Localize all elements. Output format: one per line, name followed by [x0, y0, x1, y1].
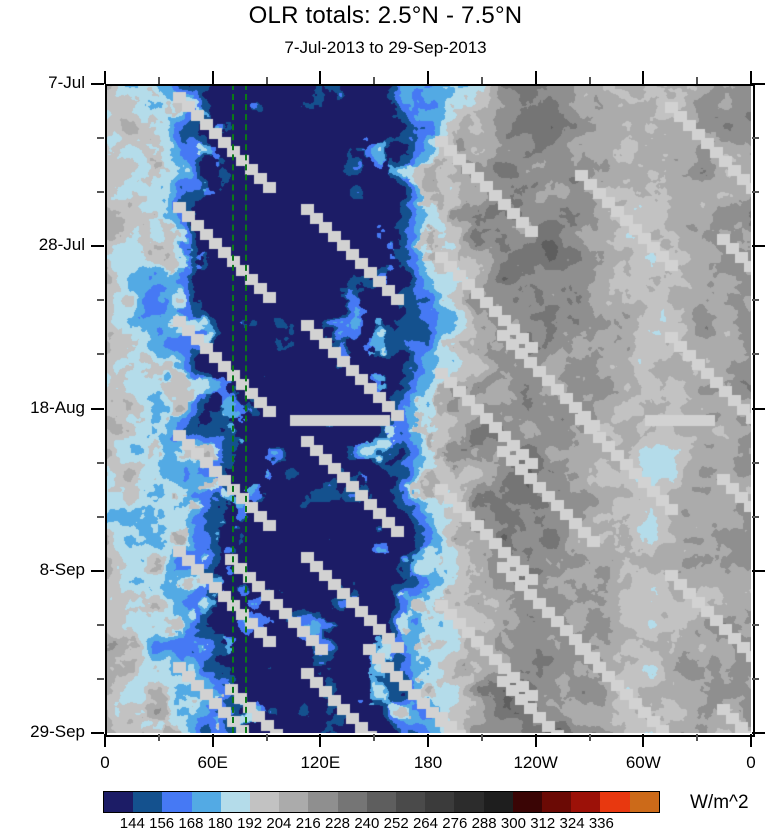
colorbar-swatch-1 — [133, 792, 162, 812]
y-axis-label: 8-Sep — [1, 560, 85, 580]
x-major-tick — [212, 734, 214, 747]
x-minor-tick — [158, 734, 160, 741]
hovmoller-figure: OLR totals: 2.5°N - 7.5°N 7-Jul-2013 to … — [0, 0, 771, 834]
y-minor-tick-right — [752, 299, 759, 301]
y-minor-tick-right — [752, 624, 759, 626]
colorbar-swatch-11 — [425, 792, 454, 812]
y-major-tick — [91, 245, 104, 247]
y-minor-tick-right — [752, 516, 759, 518]
y-minor-tick — [97, 462, 104, 464]
x-axis-label: 0 — [70, 753, 140, 773]
y-major-tick — [91, 408, 104, 410]
colorbar-swatch-5 — [250, 792, 279, 812]
y-axis-label: 7-Jul — [1, 73, 85, 93]
colorbar-swatch-18 — [630, 792, 659, 812]
x-major-tick — [427, 734, 429, 747]
x-minor-tick-top — [696, 77, 698, 84]
x-axis-label: 60W — [608, 753, 678, 773]
y-major-tick — [91, 83, 104, 85]
x-minor-tick — [266, 734, 268, 741]
colorbar-tick-label: 336 — [584, 815, 618, 832]
y-axis-label: 29-Sep — [1, 722, 85, 742]
y-minor-tick — [97, 624, 104, 626]
colorbar-swatch-17 — [600, 792, 629, 812]
y-major-tick-right — [752, 732, 765, 734]
colorbar-swatch-13 — [484, 792, 513, 812]
y-major-tick — [91, 570, 104, 572]
colorbar-swatches — [103, 791, 660, 813]
x-minor-tick — [589, 734, 591, 741]
y-major-tick-right — [752, 245, 765, 247]
colorbar-swatch-9 — [367, 792, 396, 812]
x-axis-label: 0 — [716, 753, 771, 773]
y-minor-tick — [97, 353, 104, 355]
colorbar-swatch-7 — [308, 792, 337, 812]
y-axis-label: 28-Jul — [1, 235, 85, 255]
colorbar-swatch-0 — [104, 792, 133, 812]
x-axis-label: 120W — [501, 753, 571, 773]
x-major-tick — [750, 734, 752, 747]
y-minor-tick — [97, 678, 104, 680]
x-major-tick-top — [104, 71, 106, 84]
colorbar-tick-labels: 1441561681801922042162282402522642762883… — [103, 815, 663, 833]
x-minor-tick-top — [589, 77, 591, 84]
y-minor-tick — [97, 137, 104, 139]
colorbar-swatch-6 — [279, 792, 308, 812]
x-major-tick-top — [642, 71, 644, 84]
x-minor-tick-top — [373, 77, 375, 84]
y-minor-tick — [97, 516, 104, 518]
x-axis-label: 120E — [285, 753, 355, 773]
x-axis-label: 180 — [393, 753, 463, 773]
y-minor-tick-right — [752, 137, 759, 139]
y-minor-tick — [97, 299, 104, 301]
x-major-tick — [642, 734, 644, 747]
y-minor-tick-right — [752, 191, 759, 193]
x-major-tick-top — [427, 71, 429, 84]
reference-line-green — [232, 84, 234, 733]
olr-heatmap-canvas — [105, 84, 751, 733]
y-minor-tick-right — [752, 678, 759, 680]
x-minor-tick — [481, 734, 483, 741]
colorbar-swatch-12 — [454, 792, 483, 812]
colorbar-swatch-10 — [396, 792, 425, 812]
x-minor-tick-top — [158, 77, 160, 84]
y-minor-tick-right — [752, 462, 759, 464]
x-minor-tick-top — [481, 77, 483, 84]
y-major-tick — [91, 732, 104, 734]
reference-line-green — [245, 84, 247, 733]
colorbar-swatch-2 — [162, 792, 191, 812]
x-major-tick — [319, 734, 321, 747]
y-minor-tick-right — [752, 353, 759, 355]
x-axis-label: 60E — [178, 753, 248, 773]
x-major-tick-top — [212, 71, 214, 84]
x-minor-tick — [373, 734, 375, 741]
x-major-tick — [104, 734, 106, 747]
colorbar-swatch-15 — [542, 792, 571, 812]
y-major-tick-right — [752, 408, 765, 410]
colorbar — [103, 791, 660, 813]
colorbar-swatch-16 — [571, 792, 600, 812]
y-axis-label: 18-Aug — [1, 398, 85, 418]
x-major-tick-top — [319, 71, 321, 84]
subtitle-date-range: 7-Jul-2013 to 29-Sep-2013 — [0, 38, 771, 58]
page-title: OLR totals: 2.5°N - 7.5°N — [0, 2, 771, 30]
colorbar-swatch-4 — [221, 792, 250, 812]
colorbar-unit-label: W/m^2 — [690, 792, 749, 814]
colorbar-swatch-8 — [338, 792, 367, 812]
y-minor-tick — [97, 191, 104, 193]
x-minor-tick-top — [266, 77, 268, 84]
x-major-tick — [535, 734, 537, 747]
y-major-tick-right — [752, 570, 765, 572]
plot-area — [105, 84, 751, 733]
x-major-tick-top — [535, 71, 537, 84]
x-minor-tick — [696, 734, 698, 741]
y-major-tick-right — [752, 83, 765, 85]
colorbar-swatch-14 — [513, 792, 542, 812]
colorbar-swatch-3 — [192, 792, 221, 812]
